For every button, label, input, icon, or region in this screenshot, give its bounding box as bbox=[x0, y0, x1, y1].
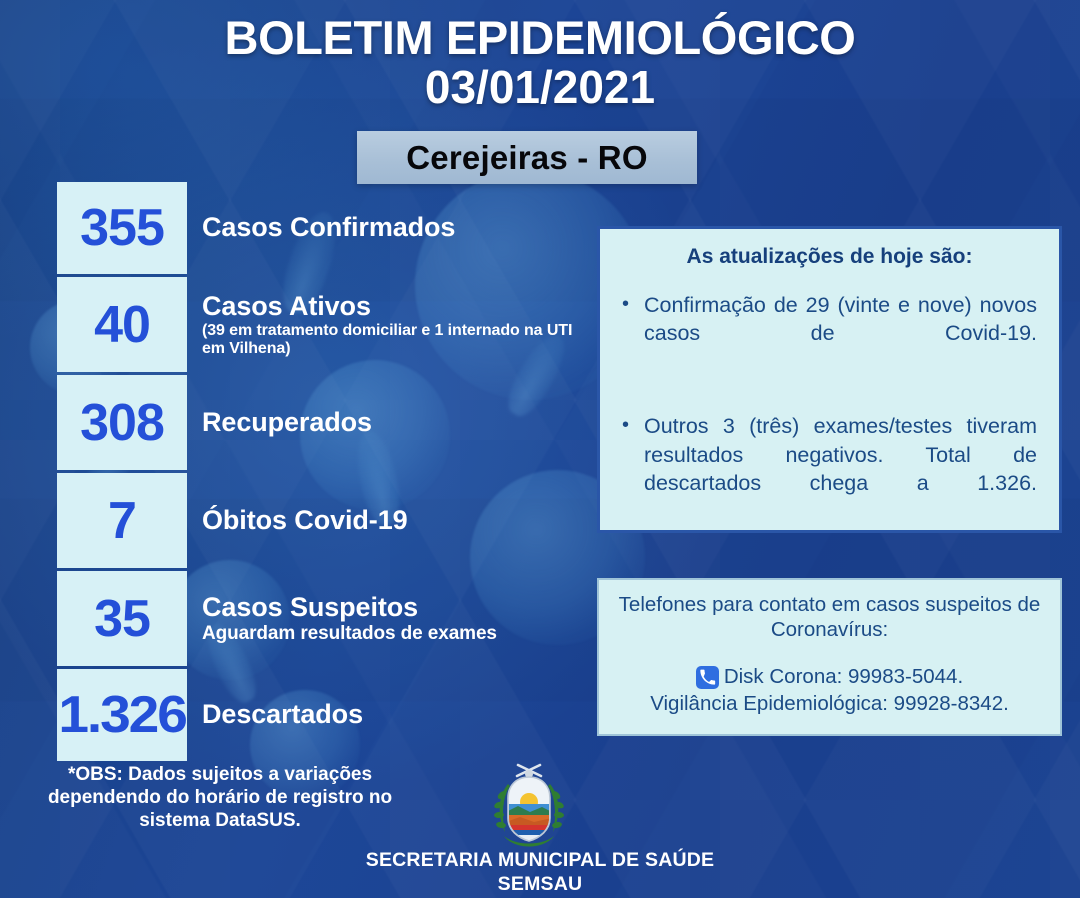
stat-value-box: 1.326 bbox=[57, 669, 187, 761]
contact-number-vigilancia: Vigilância Epidemiológica: 99928-8342. bbox=[650, 691, 1009, 718]
organization-acronym: SEMSAU bbox=[300, 872, 780, 896]
bulletin-date: 03/01/2021 bbox=[0, 62, 1080, 114]
stat-row-deaths: 7 Óbitos Covid-19 bbox=[57, 473, 577, 568]
update-bullet-text: Outros 3 (três) exames/testes tiveram re… bbox=[644, 412, 1037, 526]
stat-value-box: 40 bbox=[57, 277, 187, 372]
update-bullet-item: • Outros 3 (três) exames/testes tiveram … bbox=[622, 412, 1037, 526]
contact-number-disk-corona: Disk Corona: 99983-5044. bbox=[724, 664, 963, 691]
poster-header: BOLETIM EPIDEMIOLÓGICO 03/01/2021 bbox=[0, 14, 1080, 113]
stat-text-group: Descartados bbox=[187, 669, 577, 761]
stat-label: Descartados bbox=[202, 700, 577, 729]
stat-sublabel: (39 em tratamento domiciliar e 1 interna… bbox=[202, 322, 577, 358]
stat-row-active: 40 Casos Ativos (39 em tratamento domici… bbox=[57, 277, 577, 372]
stat-label: Óbitos Covid-19 bbox=[202, 506, 577, 535]
city-name-label: Cerejeiras - RO bbox=[406, 139, 647, 177]
stat-sublabel: Aguardam resultados de exames bbox=[202, 623, 577, 644]
organization-footer: SECRETARIA MUNICIPAL DE SAÚDE SEMSAU bbox=[300, 848, 780, 897]
update-bullet-item: • Confirmação de 29 (vinte e nove) novos… bbox=[622, 291, 1037, 376]
updates-title: As atualizações de hoje são: bbox=[622, 245, 1037, 269]
page-title: BOLETIM EPIDEMIOLÓGICO bbox=[0, 14, 1080, 62]
stat-value: 7 bbox=[108, 495, 136, 547]
stat-row-discarded: 1.326 Descartados bbox=[57, 669, 577, 761]
stat-label: Recuperados bbox=[202, 408, 577, 437]
stat-text-group: Casos Ativos (39 em tratamento domicilia… bbox=[187, 277, 577, 372]
stat-text-group: Casos Confirmados bbox=[187, 182, 577, 274]
stat-text-group: Recuperados bbox=[187, 375, 577, 470]
stat-value-box: 35 bbox=[57, 571, 187, 666]
daily-updates-panel: As atualizações de hoje são: • Confirmaç… bbox=[597, 226, 1062, 533]
stat-value: 1.326 bbox=[58, 689, 185, 741]
stat-row-suspected: 35 Casos Suspeitos Aguardam resultados d… bbox=[57, 571, 577, 666]
stat-text-group: Óbitos Covid-19 bbox=[187, 473, 577, 568]
contact-line-disk-corona: Disk Corona: 99983-5044. bbox=[609, 664, 1050, 691]
stat-text-group: Casos Suspeitos Aguardam resultados de e… bbox=[187, 571, 577, 666]
stat-label: Casos Confirmados bbox=[202, 213, 577, 242]
stat-row-recovered: 308 Recuperados bbox=[57, 375, 577, 470]
stat-label: Casos Ativos bbox=[202, 292, 577, 321]
contact-phones-panel: Telefones para contato em casos suspeito… bbox=[597, 578, 1062, 736]
stat-label: Casos Suspeitos bbox=[202, 593, 577, 622]
stat-value-box: 7 bbox=[57, 473, 187, 568]
statistics-list: 355 Casos Confirmados 40 Casos Ativos (3… bbox=[57, 182, 577, 764]
epidemiological-bulletin-poster: BOLETIM EPIDEMIOLÓGICO 03/01/2021 Cereje… bbox=[0, 0, 1080, 898]
update-bullet-text: Confirmação de 29 (vinte e nove) novos c… bbox=[644, 291, 1037, 376]
observation-note: *OBS: Dados sujeitos a variações depende… bbox=[20, 763, 420, 833]
phone-icon bbox=[696, 666, 719, 689]
stat-row-confirmed: 355 Casos Confirmados bbox=[57, 182, 577, 274]
stat-value: 355 bbox=[80, 202, 164, 254]
municipal-coat-of-arms-logo bbox=[488, 762, 570, 854]
stat-value: 40 bbox=[94, 299, 150, 351]
contact-heading: Telefones para contato em casos suspeito… bbox=[609, 592, 1050, 642]
contact-number-list: Disk Corona: 99983-5044. Vigilância Epid… bbox=[609, 664, 1050, 717]
organization-name: SECRETARIA MUNICIPAL DE SAÚDE bbox=[300, 848, 780, 872]
stat-value-box: 308 bbox=[57, 375, 187, 470]
stat-value-box: 355 bbox=[57, 182, 187, 274]
contact-line-vigilancia: Vigilância Epidemiológica: 99928-8342. bbox=[609, 691, 1050, 718]
bullet-marker-icon: • bbox=[622, 412, 644, 526]
stat-value: 35 bbox=[94, 593, 150, 645]
city-name-band: Cerejeiras - RO bbox=[357, 131, 697, 184]
stat-value: 308 bbox=[80, 397, 164, 449]
bullet-marker-icon: • bbox=[622, 291, 644, 376]
